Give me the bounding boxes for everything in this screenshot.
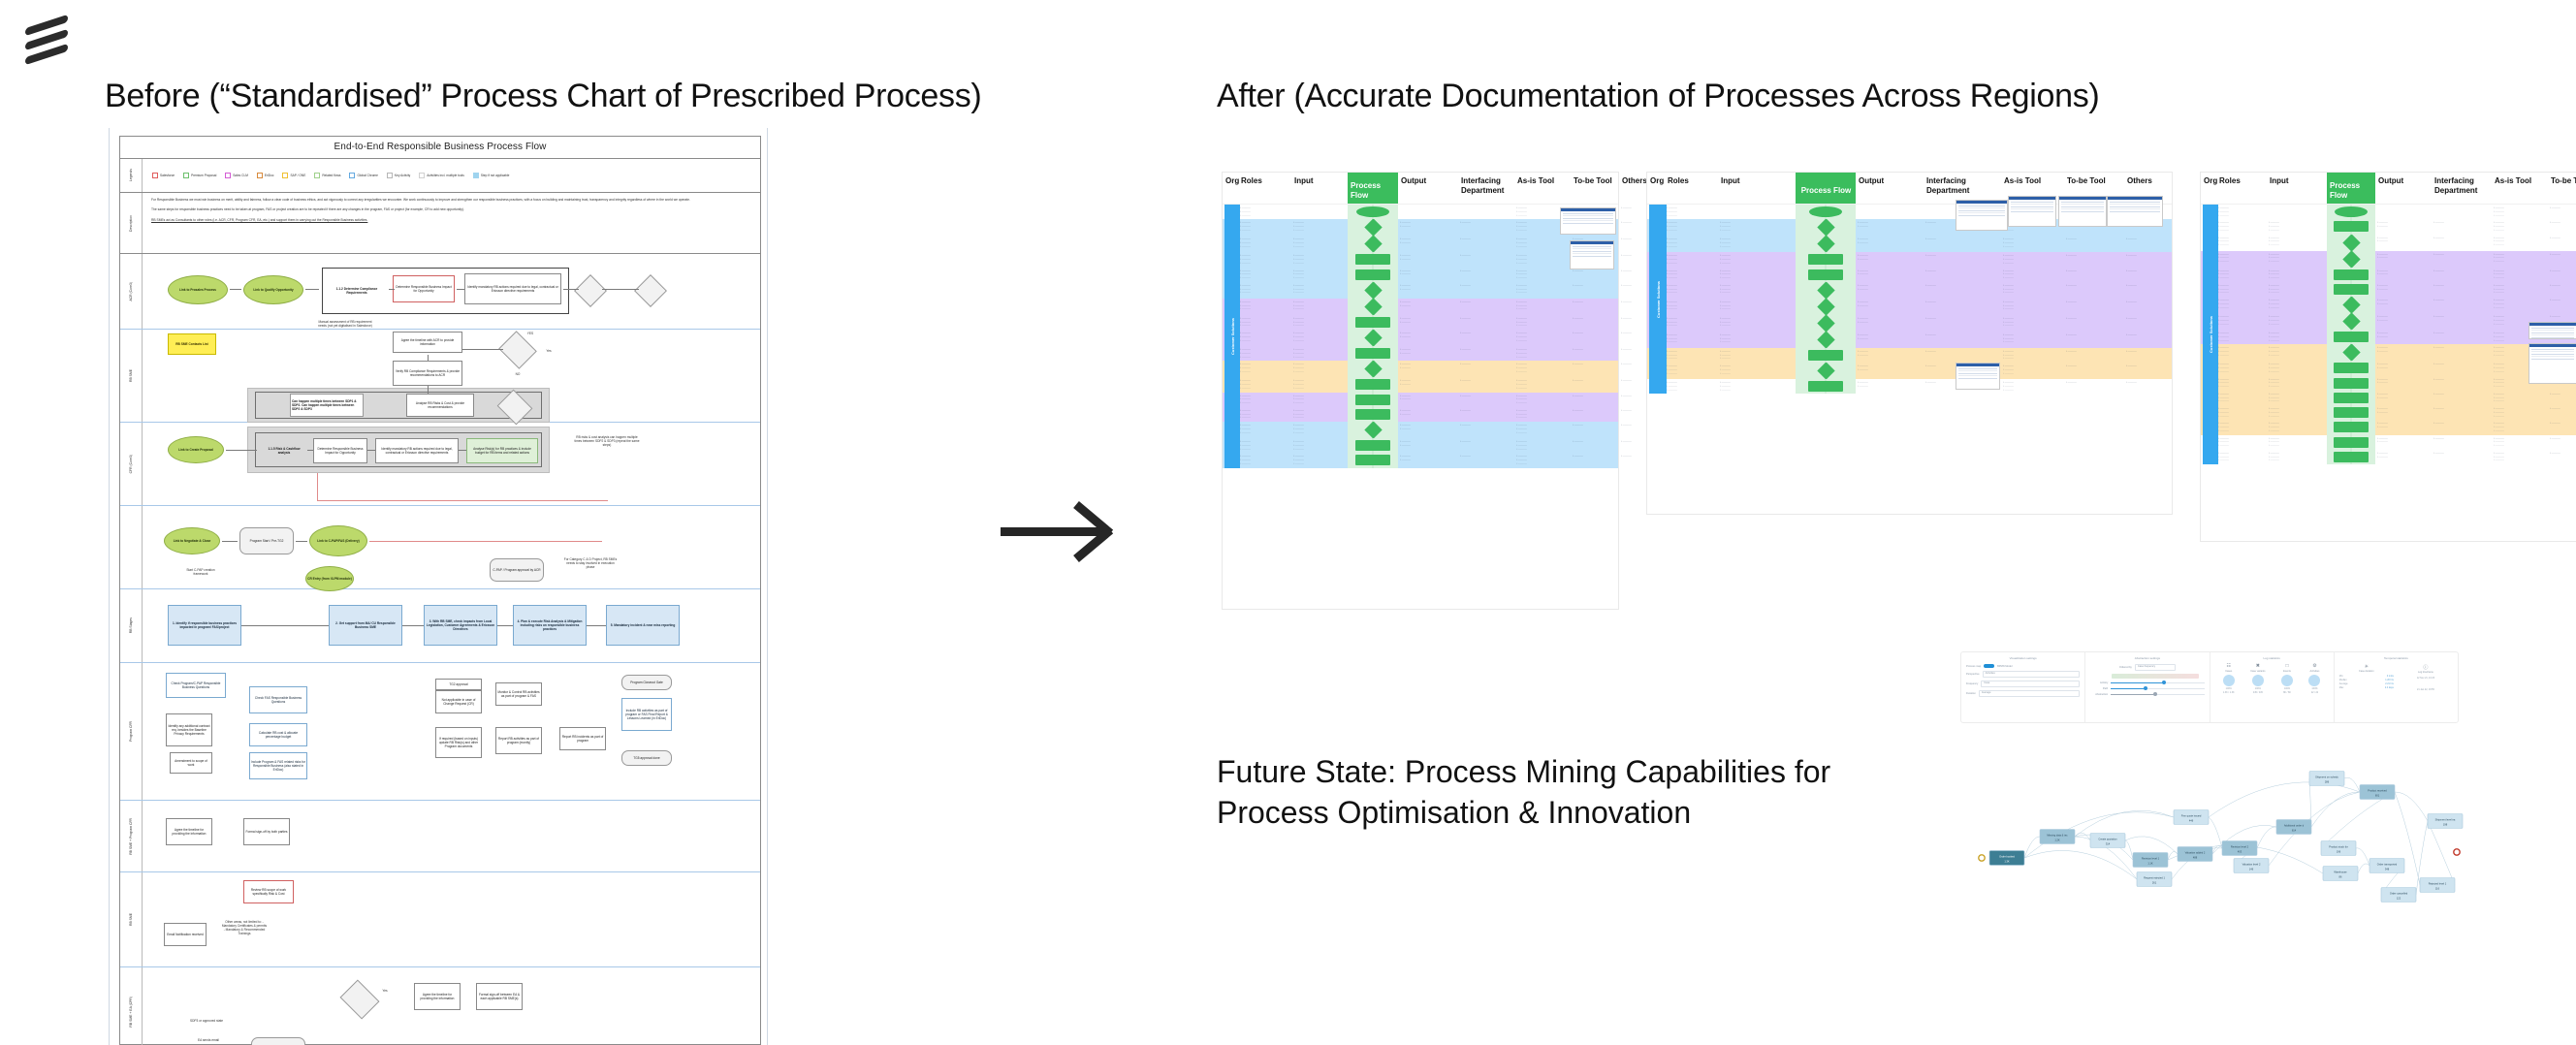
thumbnail-title-bar: [2009, 197, 2055, 200]
cell-line: • ─────: [1460, 301, 1512, 304]
cell-line: • ─────: [2218, 229, 2265, 233]
case-duration-row: Min0 mins: [2339, 675, 2394, 678]
cell-roles: • ─────• ─────• ─────: [1238, 438, 1291, 453]
process-mining-graph[interactable]: Order booked1.3KMissing data & tec1.2KCr…: [1960, 751, 2465, 940]
cell-line: • ─────: [1400, 366, 1456, 370]
swimlane-label: Program CFR: [120, 663, 143, 800]
cell-input: • ─────• ─────• ─────: [2267, 219, 2327, 234]
cell-line: • ─────: [1516, 431, 1569, 435]
swimlane-label-text: RB SME: [129, 913, 133, 926]
cell-output: • ─────• ─────: [1398, 361, 1458, 377]
cell-input: [1291, 205, 1348, 219]
cell-line: • ─────: [2003, 372, 2062, 376]
swimlane-label: RB Stages: [120, 589, 143, 662]
cell-interfacing-department: • ─────: [2432, 420, 2492, 434]
cell-process-flow: [2327, 361, 2375, 375]
viz-setting-label: Frequency: [1966, 682, 1978, 685]
flow-connector: [428, 355, 429, 361]
cell-line: • ─────: [2494, 339, 2546, 343]
thumbnail-line: [1958, 378, 1997, 379]
thumbnail-line: [2061, 202, 2104, 203]
cell-line: • ─────: [1460, 332, 1512, 335]
cell-line: • ─────: [1925, 269, 1999, 273]
cell-interfacing-department: [2432, 205, 2492, 219]
cell-process-flow: [2327, 268, 2375, 282]
cell-as-is-tool: • ─────• ─────• ─────: [1514, 330, 1571, 346]
cell-line: • ─────: [1858, 304, 1922, 308]
graph-node-value: 198: [2443, 822, 2448, 826]
cell-as-is-tool: • ─────• ─────• ─────: [2492, 235, 2548, 251]
thumbnail-line: [2061, 206, 2104, 207]
cell-line: • ─────: [1293, 245, 1346, 249]
cell-output: • ─────• ─────: [1856, 268, 1924, 282]
graph-edge: [2024, 850, 2137, 879]
org-band-label: Customer Solutions: [2209, 316, 2213, 353]
flow-node-label: Email Notification received: [167, 933, 204, 936]
cell-line: • ─────: [1293, 401, 1346, 405]
cell-roles: • ─────• ─────• ─────: [1238, 219, 1291, 236]
thumbnail-line: [1958, 375, 1997, 376]
cell-line: • ─────: [2433, 452, 2490, 456]
cell-interfacing-department: • ─────: [1458, 422, 1514, 438]
cell-process-flow: [1348, 377, 1398, 392]
table-row: • ─────• ─────• ─────• ─────• ─────• ───…: [1647, 282, 2172, 299]
flow-connector: [307, 450, 313, 451]
abstraction-slider-row[interactable]: Path: [2090, 687, 2204, 690]
flow-shape-rect: [2334, 378, 2369, 389]
flow-decision: [634, 274, 667, 307]
cell-process-flow: [1348, 330, 1398, 346]
column-header-org: Org: [2201, 173, 2216, 186]
graph-node-label: Shipment level tra: [2435, 817, 2456, 821]
cell-line: • ─────: [2126, 333, 2178, 337]
cell-line: • ─────: [1516, 448, 1569, 452]
cell-line: • ─────: [1667, 389, 1716, 393]
cell-roles: • ─────• ─────• ─────: [2216, 268, 2267, 282]
thumbnail-line: [2061, 204, 2104, 205]
cell-line: • ─────: [1720, 357, 1794, 361]
viz-setting-row[interactable]: DurationAverage: [1966, 690, 2080, 697]
cell-roles: • ─────• ─────• ─────: [1238, 268, 1291, 282]
graph-node-value: 122: [2397, 896, 2401, 900]
cell-process-flow: [1348, 361, 1398, 377]
cell-line: • ─────: [2433, 422, 2490, 426]
cell-interfacing-department: • ─────: [1458, 315, 1514, 330]
abstraction-slider-label: Abstraction: [2090, 693, 2108, 696]
flow-node-label: Manual assessment of RB requirement need…: [314, 320, 376, 328]
cases-icon: ☷: [2223, 664, 2235, 669]
log-stat-detail: 8K / 8K: [2281, 691, 2293, 694]
column-header-org: Org: [1223, 173, 1238, 186]
abstraction-slider[interactable]: [2111, 694, 2204, 695]
cell-line: • ─────: [2269, 415, 2325, 419]
table-row: • ─────• ─────• ─────• ─────• ─────• ───…: [2201, 313, 2576, 330]
flow-shape-diamond: [1364, 299, 1382, 315]
cell-as-is-tool: • ─────• ─────• ─────: [2492, 450, 2548, 464]
log-stat-detail: 445 / 445: [2250, 691, 2265, 694]
flow-node-label: Report RB activities as part of program …: [497, 737, 540, 744]
flow-node: Monitor & Control RB activities as part …: [495, 682, 542, 706]
table-row: • ─────• ─────• ─────• ─────• ─────• ───…: [1223, 407, 1618, 422]
table-row: • ─────• ─────• ─────• ─────• ─────• ───…: [2201, 282, 2576, 297]
thumbnail-line: [2531, 359, 2574, 360]
cell-to-be-tool: • ─────: [1571, 422, 1619, 438]
flowchart-swimlanes: ACR (Core3)Link to Prosales ProcessLink …: [120, 254, 760, 1045]
cell-process-flow: [1796, 379, 1856, 394]
graph-edge: [2344, 777, 2360, 792]
ordered-by-row[interactable]: Ordered byCase frequency: [2090, 664, 2204, 671]
cell-line: • ─────: [2550, 284, 2576, 288]
cell-others: • ─────: [2124, 315, 2180, 332]
cell-as-is-tool: • ─────• ─────• ─────: [2001, 252, 2064, 267]
thumbnail-line: [2110, 211, 2160, 212]
cell-line: • ─────: [2269, 385, 2325, 389]
cell-line: • ─────: [2494, 444, 2546, 448]
cell-interfacing-department: • ─────: [1458, 361, 1514, 377]
column-header-as-is-tool: As-is Tool: [2001, 173, 2064, 186]
thumbnail-title-bar: [2108, 197, 2162, 200]
flow-node: Include Program & FAS related risks for …: [249, 752, 307, 779]
table-row: • ─────• ─────• ─────• ─────• ─────• ───…: [1647, 268, 2172, 282]
cell-to-be-tool: • ─────: [1571, 377, 1619, 392]
cell-output: • ─────• ─────: [1856, 299, 1924, 315]
cell-to-be-tool: • ─────: [2548, 297, 2576, 313]
cell-line: • ─────: [2066, 364, 2122, 368]
graph-edge: [2257, 827, 2276, 848]
cell-input: • ─────• ─────• ─────: [1718, 348, 1796, 363]
ordered-by-select[interactable]: Case frequency: [2135, 664, 2176, 671]
org-band: Customer Solutions: [2203, 205, 2218, 464]
column-header-output: Output: [1856, 173, 1924, 186]
thumbnail-line: [1958, 370, 1997, 371]
cell-roles: • ─────• ─────• ─────: [2216, 235, 2267, 251]
flow-node: 3. With RB SME, check impacts from Local…: [424, 605, 497, 646]
flow-connector: [296, 541, 307, 542]
embedded-screenshot-thumbnail: [1560, 207, 1616, 235]
process-table-region-2: OrgRolesInputProcess FlowOutputInterfaci…: [1647, 173, 2172, 514]
legend-label: Sales CLM: [233, 174, 248, 177]
flow-connector: [402, 625, 424, 626]
flow-node: Include RB activities as part of program…: [621, 698, 672, 731]
flow-shape-rect: [1355, 317, 1390, 328]
flow-shape-rect: [2334, 363, 2369, 373]
cell-line: • ─────: [2377, 302, 2430, 306]
flow-node-label: Include Program & FAS related risks for …: [251, 760, 305, 772]
cell-input: • ─────• ─────• ─────: [1291, 252, 1348, 267]
thumbnail-line: [1958, 207, 2005, 208]
cell-output: • ─────• ─────: [1856, 332, 1924, 348]
abstraction-slider-row[interactable]: Activity: [2090, 681, 2204, 684]
thumbnail-line: [2110, 208, 2160, 209]
cell-line: • ─────: [2003, 340, 2062, 344]
flow-node-label: YES: [527, 332, 533, 335]
flow-node: Not applicable in case of Change Request…: [435, 690, 482, 713]
cell-line: • ─────: [2218, 415, 2265, 419]
flow-connector: [222, 541, 238, 542]
cell-line: • ─────: [1400, 241, 1456, 245]
swimlane: RB SMEReview RB scope of work specifical…: [120, 872, 760, 967]
cell-input: • ─────• ─────• ─────: [1291, 422, 1348, 438]
flow-connector: [369, 541, 602, 542]
cell-as-is-tool: • ─────• ─────• ─────: [1514, 268, 1571, 282]
thumbnail-title-bar: [1571, 241, 1613, 244]
swimlane-label: RB SME + Program CFR: [120, 801, 143, 871]
cell-line: • ─────: [2126, 350, 2178, 354]
cell-process-flow: [2327, 313, 2375, 330]
cell-others: • ─────: [2124, 348, 2180, 363]
cell-line: • ─────: [1240, 229, 1289, 233]
abstraction-slider[interactable]: [2111, 688, 2204, 689]
flow-node: Identify mandatory RB actions required d…: [375, 438, 459, 463]
table-row: • ─────• ─────• ─────• ─────• ─────• ───…: [1223, 315, 1618, 330]
cell-to-be-tool: • ─────: [1571, 315, 1619, 330]
cell-input: • ─────• ─────• ─────: [1291, 299, 1348, 315]
viz-setting-label: Process map: [1966, 665, 1981, 668]
cell-to-be-tool: • ─────: [1571, 330, 1619, 346]
abstraction-slider[interactable]: [2111, 682, 2204, 683]
table-row: • ─────• ─────• ─────• ─────• ─────• ───…: [2201, 435, 2576, 450]
cell-input: • ─────• ─────• ─────: [2267, 282, 2327, 297]
swimlane-label: RB SME + EA (CPR): [120, 967, 143, 1045]
thumbnail-line: [2011, 202, 2053, 203]
graph-edge: [2209, 782, 2360, 817]
flow-connector: [462, 349, 503, 350]
table-row: • ─────• ─────• ─────• ─────• ─────• ───…: [2201, 391, 2576, 405]
flow-node: TG2 approval: [435, 679, 482, 690]
cell-roles: • ─────• ─────• ─────: [2216, 420, 2267, 434]
table-row: • ─────• ─────• ─────• ─────• ─────• ───…: [2201, 268, 2576, 282]
cell-output: • ─────• ─────: [1398, 438, 1458, 453]
cell-line: • ─────: [2126, 364, 2178, 368]
cell-others: • ─────: [2124, 268, 2180, 282]
cell-process-flow: [1348, 407, 1398, 422]
cell-line: • ─────: [1400, 427, 1456, 431]
cell-line: • ─────: [1516, 356, 1569, 360]
embedded-screenshot-thumbnail: [1570, 240, 1614, 269]
cell-roles: • ─────• ─────• ─────: [2216, 330, 2267, 344]
cell-input: • ─────• ─────• ─────: [1718, 219, 1796, 236]
thumbnail-line: [1958, 210, 2005, 211]
flow-node-label: 2. Get support from MA/ CU Responsible B…: [331, 621, 400, 629]
cell-output: • ─────• ─────: [2375, 450, 2432, 464]
column-header-as-is-tool: As-is Tool: [2492, 173, 2548, 186]
column-header-others: Others: [2124, 173, 2180, 186]
flow-node-label: Formal sign-off between EA & each applic…: [478, 993, 521, 1000]
column-header-interfacing-department: Interfacing Department: [1924, 173, 2001, 196]
activities-icon: ⚙: [2308, 664, 2320, 669]
flow-node: Link to Qualify Opportunity: [243, 275, 303, 304]
flow-shape-diamond: [2342, 297, 2360, 313]
viz-setting-label: Duration: [1966, 692, 1976, 695]
cell-roles: • ─────• ─────• ─────: [1238, 315, 1291, 330]
cell-roles: • ─────• ─────• ─────: [1665, 268, 1718, 282]
flow-connector: [457, 289, 464, 290]
cell-output: • ─────• ─────: [1398, 236, 1458, 252]
thumbnail-line: [2110, 204, 2160, 205]
flow-node: If required (based on inputs) update RB …: [435, 727, 482, 758]
legend-label: Key Activity: [395, 174, 410, 177]
cell-line: • ─────: [1460, 269, 1512, 273]
cell-interfacing-department: • ─────: [1458, 438, 1514, 453]
flow-shape-rect: [2334, 452, 2369, 462]
cell-line: • ─────: [2218, 260, 2265, 264]
swimlane-label-text: ACR (Core3): [129, 282, 133, 301]
flow-node: Program Closeout Gate: [621, 675, 672, 690]
cell-as-is-tool: • ─────• ─────• ─────: [2492, 405, 2548, 420]
graph-node-value: 261: [2152, 880, 2157, 884]
cell-line: • ─────: [1460, 221, 1512, 225]
cell-as-is-tool: • ─────• ─────• ─────: [1514, 361, 1571, 377]
viz-setting-select[interactable]: Average: [1979, 690, 2080, 697]
cell-output: • ─────• ─────: [2375, 391, 2432, 405]
viz-setting-select[interactable]: Activities: [1983, 671, 2081, 678]
cell-line: • ─────: [1573, 284, 1617, 288]
flow-node: Identify any additional contract req. be…: [166, 713, 212, 746]
cell-input: • ─────• ─────• ─────: [1718, 282, 1796, 299]
description-paragraph: The same steps for responsible business …: [151, 207, 751, 212]
cell-output: [1856, 205, 1924, 219]
cell-line: • ─────: [2003, 357, 2062, 361]
info-icon: ⓘ: [2399, 664, 2453, 671]
cell-to-be-tool: • ─────: [1571, 393, 1619, 407]
viz-setting-row[interactable]: FrequencyCase: [1966, 681, 2080, 687]
cell-output: • ─────• ─────: [1398, 407, 1458, 422]
flow-node: Review RB scope of work specifically Ris…: [243, 880, 294, 903]
cell-line: • ─────: [2550, 437, 2576, 441]
cell-line: • ─────: [1667, 229, 1716, 233]
column-header-org: Org: [1647, 173, 1665, 186]
cell-line: • ─────: [1293, 462, 1346, 466]
cell-roles: • ─────• ─────• ─────: [2216, 405, 2267, 420]
swimlane-canvas: Review RB scope of work specifically Ris…: [143, 872, 760, 966]
cell-process-flow: [1348, 268, 1398, 282]
cell-to-be-tool: • ─────: [2548, 219, 2576, 234]
cell-as-is-tool: • ─────• ─────• ─────: [1514, 315, 1571, 330]
cell-line: • ─────: [1925, 301, 1999, 304]
thumbnail-line: [2110, 206, 2160, 207]
flow-connector: [587, 625, 606, 626]
log-timeframe-block: ⓘLog timeframe12 Nov 21, 10:2321 Jan 22,…: [2399, 664, 2453, 691]
flow-node: Link to C-PAP/FAS (Delivery): [309, 525, 367, 556]
heading-after: After (Accurate Documentation of Process…: [1217, 78, 2099, 115]
cell-roles: • ─────• ─────• ─────: [2216, 219, 2267, 234]
thumbnail-line: [2110, 202, 2160, 203]
cell-line: • ─────: [1240, 387, 1289, 391]
cell-output: • ─────• ─────: [2375, 344, 2432, 361]
graph-node-value: 146: [2249, 867, 2254, 871]
cell-input: • ─────• ─────• ─────: [1718, 299, 1796, 315]
cell-line: • ─────: [2003, 291, 2062, 295]
legend-swatch: [183, 173, 189, 178]
cell-roles: • ─────• ─────• ─────: [2216, 251, 2267, 268]
abstraction-slider-row[interactable]: Abstraction: [2090, 693, 2204, 696]
cell-line: • ─────: [2433, 315, 2490, 319]
viz-setting-select[interactable]: Case: [1981, 681, 2080, 687]
cell-roles: • ─────• ─────• ─────: [2216, 297, 2267, 313]
cell-line: • ─────: [1858, 337, 1922, 341]
cell-line: • ─────: [1516, 401, 1569, 405]
cell-interfacing-department: • ─────: [1458, 236, 1514, 252]
process-mining-settings-panel[interactable]: Visualization settingsProcess mapBPMN Mo…: [1960, 651, 2459, 723]
graph-node-label: Warehouse: [2334, 870, 2347, 873]
flow-node: 1.1.5 Risk & Cashflow analysis: [261, 436, 307, 465]
graph-node-label: Valuation added 2: [2185, 850, 2206, 854]
cell-line: • ─────: [2218, 459, 2265, 462]
cell-line: • ─────: [1667, 357, 1716, 361]
heading-future-line2: Process Optimisation & Innovation: [1217, 795, 1691, 830]
cell-line: • ─────: [1240, 462, 1289, 466]
graph-node-label: Valuation level 2: [2242, 862, 2261, 866]
flow-node: Verify RB Compliance Requirements & prov…: [393, 361, 462, 386]
cell-line: • ─────: [1293, 229, 1346, 233]
graph-node-value: 1.1K: [2147, 861, 2153, 865]
cell-as-is-tool: • ─────• ─────• ─────: [1514, 299, 1571, 315]
flow-node-label: Determine Responsible Business Impact fo…: [395, 285, 453, 293]
thumbnail-line: [1958, 215, 2005, 216]
column-header-roles: Roles: [2216, 173, 2267, 186]
temporal-statistics-section: Temporal statistics☀Case durationMin0 mi…: [2335, 652, 2458, 722]
cell-as-is-tool: • ─────• ─────• ─────: [2492, 268, 2548, 282]
cell-interfacing-department: • ─────: [2432, 219, 2492, 234]
cell-line: • ─────: [2126, 254, 2178, 258]
cell-input: • ─────• ─────• ─────: [1291, 315, 1348, 330]
cell-line: • ─────: [2066, 269, 2122, 273]
flow-node: EA sends email: [191, 1035, 226, 1045]
thumbnail-line: [2531, 334, 2574, 335]
cell-process-flow: [1348, 346, 1398, 361]
cell-line: • ─────: [1573, 269, 1617, 273]
thumbnail-line: [2531, 337, 2574, 338]
flowchart-title: End-to-End Responsible Business Process …: [120, 137, 760, 159]
thumbnail-line: [1958, 212, 2005, 213]
cell-line: • ─────: [1240, 339, 1289, 343]
flow-shape-rect: [1808, 350, 1843, 361]
cell-input: • ─────• ─────• ─────: [1718, 252, 1796, 267]
table-body: • ─────• ─────• ─────• ─────• ─────• ───…: [2201, 205, 2576, 464]
swimlane-label-text: RB SME: [129, 369, 133, 382]
cell-as-is-tool: • ─────• ─────• ─────: [2492, 420, 2548, 434]
cell-line: • ─────: [1460, 348, 1512, 352]
description-paragraph: For Responsible Business we must win bus…: [151, 198, 751, 203]
swimlane-canvas: Link to Create Proposal1.1.5 Risk & Cash…: [143, 423, 760, 505]
cell-line: • ─────: [2269, 429, 2325, 433]
graph-node-label: Rejected level 1: [2429, 881, 2447, 885]
viz-settings-section: Visualization settingsProcess mapBPMN Mo…: [1961, 652, 2085, 722]
toggle-pill[interactable]: [1984, 664, 1994, 668]
flow-node-label: Program Closeout Gate: [630, 681, 662, 684]
cell-interfacing-department: • ─────: [1924, 332, 2001, 348]
viz-setting-row[interactable]: Process mapBPMN Model: [1966, 664, 2080, 668]
viz-setting-row[interactable]: PerspectiveActivities: [1966, 671, 2080, 678]
case-duration-value: 0 mins: [2387, 675, 2394, 678]
cell-line: • ─────: [2377, 272, 2430, 276]
flow-shape-rect: [1355, 455, 1390, 465]
cell-as-is-tool: • ─────• ─────• ─────: [2492, 282, 2548, 297]
embedded-screenshot-thumbnail: [1956, 363, 2000, 390]
cell-process-flow: [1348, 282, 1398, 299]
cell-line: • ─────: [2126, 269, 2178, 273]
cell-to-be-tool: • ─────: [2064, 363, 2124, 379]
cell-input: • ─────• ─────• ─────: [1291, 361, 1348, 377]
cell-to-be-tool: • ─────: [2548, 235, 2576, 251]
cell-line: • ─────: [1460, 363, 1512, 366]
cell-output: [1398, 205, 1458, 219]
cell-line: • ─────: [2377, 366, 2430, 370]
table-row: • ─────• ─────• ─────• ─────• ─────• ───…: [1647, 332, 2172, 348]
cell-line: • ─────: [1240, 431, 1289, 435]
flow-shape-rect: [2334, 332, 2369, 342]
cell-input: • ─────• ─────• ─────: [1291, 346, 1348, 361]
